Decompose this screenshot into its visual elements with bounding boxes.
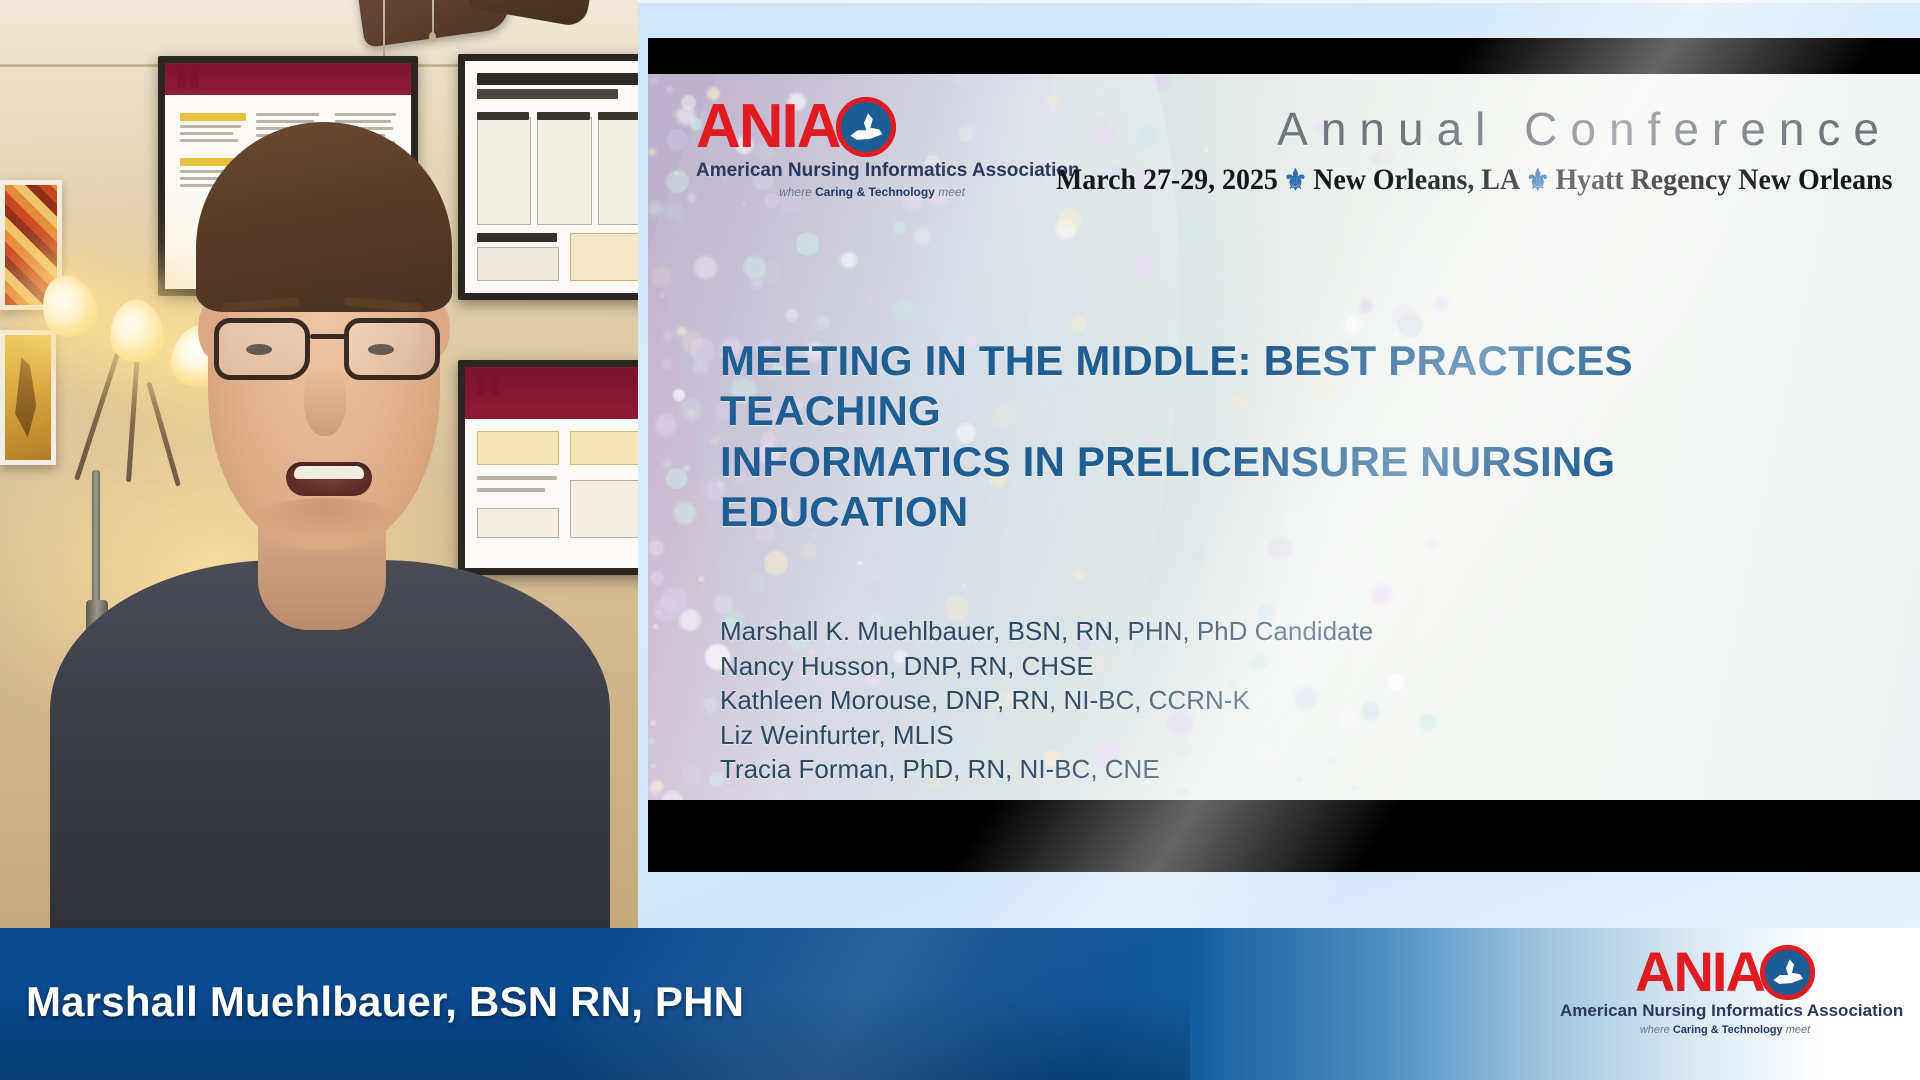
ania-tagline: where Caring & Technology meet: [1560, 1024, 1890, 1036]
conference-heading: Annual Conference: [993, 102, 1893, 156]
presenter-video-feed[interactable]: [0, 0, 638, 928]
presenter-hair: [196, 122, 452, 312]
slide-title-line-2: INFORMATICS IN PRELICENSURE NURSING EDUC…: [720, 437, 1850, 538]
ania-wordmark-text: ANIA: [1635, 944, 1764, 1000]
speaker-name-label: Marshall Muehlbauer, BSN RN, PHN: [26, 978, 744, 1026]
conference-details: March 27-29, 2025⚜New Orleans, LA⚜Hyatt …: [1055, 162, 1892, 197]
author-line: Kathleen Morouse, DNP, RN, NI-BC, CCRN-K: [720, 683, 1373, 718]
presenter-teeth: [294, 466, 364, 479]
author-line: Liz Weinfurter, MLIS: [720, 718, 1373, 753]
speaker-name-banner: Marshall Muehlbauer, BSN RN, PHN ANIA Am…: [0, 928, 1920, 1080]
dove-in-circle-icon: [836, 97, 896, 157]
slide-title-line-1: MEETING IN THE MIDDLE: BEST PRACTICES TE…: [720, 336, 1850, 437]
slide-pane-top-edge: [638, 0, 1920, 3]
author-line: Marshall K. Muehlbauer, BSN, RN, PHN, Ph…: [720, 614, 1373, 649]
ania-logo: ANIA American Nursing Informatics Associ…: [1560, 944, 1890, 1036]
presentation-screen: ANIA American Nursing Informatics Associ…: [0, 0, 1920, 1080]
slide-header: ANIA American Nursing Informatics Associ…: [648, 74, 1920, 246]
slide-author-list: Marshall K. Muehlbauer, BSN, RN, PHN, Ph…: [720, 614, 1373, 787]
fleur-de-lis-icon: ⚜: [1520, 165, 1555, 197]
slide-content-area: ANIA American Nursing Informatics Associ…: [648, 74, 1920, 800]
author-line: Tracia Forman, PhD, RN, NI-BC, CNE: [720, 752, 1373, 787]
ania-wordmark: ANIA: [1560, 944, 1890, 1000]
slide-letterbox-top: [648, 38, 1920, 74]
presenter-chin-shadow: [252, 498, 400, 542]
slide-title: MEETING IN THE MIDDLE: BEST PRACTICES TE…: [720, 336, 1850, 538]
ania-association-name: American Nursing Informatics Association: [1560, 1001, 1890, 1021]
conference-header: Annual Conference March 27-29, 2025⚜New …: [993, 102, 1893, 197]
slide-letterbox-bottom: [648, 800, 1920, 872]
author-line: Nancy Husson, DNP, RN, CHSE: [720, 649, 1373, 684]
presenter-nose: [304, 366, 346, 436]
presenter-figure: [0, 0, 638, 928]
ania-wordmark-text: ANIA: [696, 96, 840, 158]
conference-location: New Orleans, LA: [1313, 163, 1520, 196]
conference-venue: Hyatt Regency New Orleans: [1555, 163, 1892, 196]
conference-dates: March 27-29, 2025: [1055, 163, 1277, 196]
slide-viewer-pane[interactable]: ANIA American Nursing Informatics Associ…: [638, 0, 1920, 928]
dove-in-circle-icon: [1760, 945, 1815, 1000]
presentation-slide[interactable]: ANIA American Nursing Informatics Associ…: [648, 38, 1920, 872]
fleur-de-lis-icon: ⚜: [1277, 165, 1312, 197]
